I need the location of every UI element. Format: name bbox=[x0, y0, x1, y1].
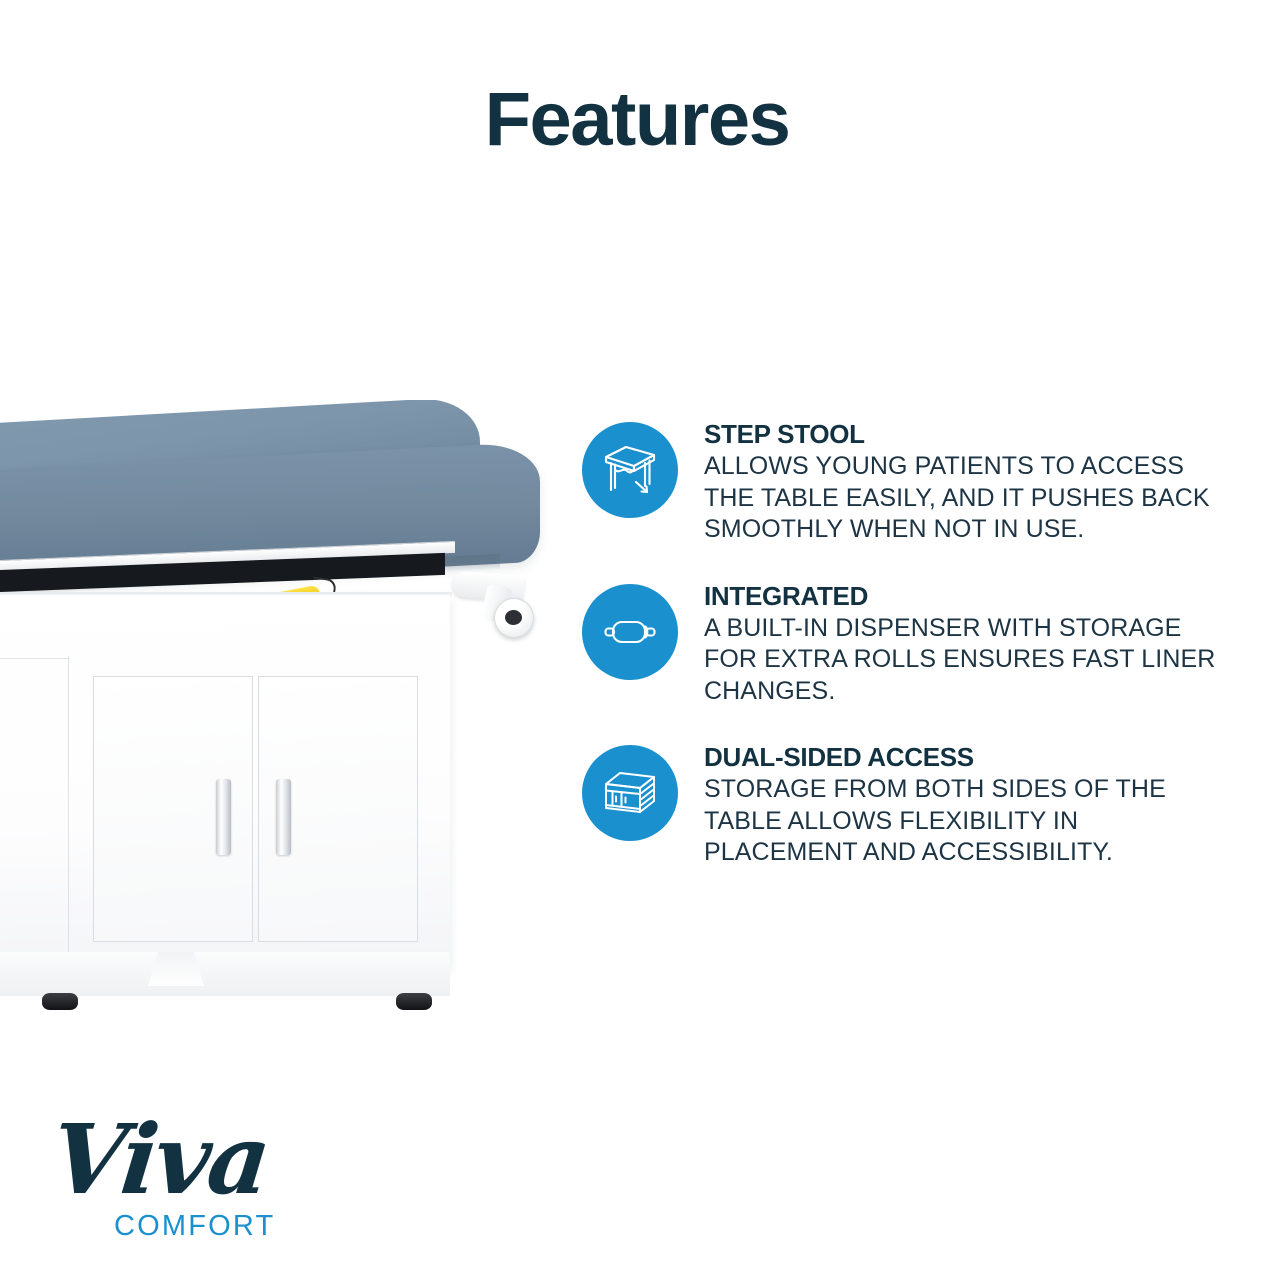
step-stool-icon bbox=[582, 422, 678, 518]
cabinet-foot-left bbox=[42, 993, 78, 1010]
feature-item-dual-sided-access: DUAL-SIDED ACCESS STORAGE FROM BOTH SIDE… bbox=[582, 741, 1222, 869]
feature-heading: INTEGRATED bbox=[704, 582, 1222, 611]
paper-roll-icon bbox=[582, 584, 678, 680]
brand-tagline: COMFORT bbox=[114, 1212, 275, 1241]
feature-body: A BUILT-IN DISPENSER WITH STORAGE FOR EX… bbox=[704, 613, 1222, 708]
feature-body: STORAGE FROM BOTH SIDES OF THE TABLE ALL… bbox=[704, 774, 1222, 869]
feature-heading: STEP STOOL bbox=[704, 420, 1222, 449]
feature-body: ALLOWS YOUNG PATIENTS TO ACCESS THE TABL… bbox=[704, 451, 1222, 546]
cabinet-seam-horizontal bbox=[0, 658, 70, 659]
roller-hub bbox=[505, 610, 522, 625]
cabinet-plinth bbox=[0, 952, 450, 996]
brand-name: Viva bbox=[47, 1112, 272, 1208]
cabinet-foot-right bbox=[396, 993, 432, 1010]
feature-list: STEP STOOL ALLOWS YOUNG PATIENTS TO ACCE… bbox=[582, 418, 1222, 903]
brand-logo: Viva COMFORT bbox=[52, 1112, 312, 1252]
feature-text-block: STEP STOOL ALLOWS YOUNG PATIENTS TO ACCE… bbox=[704, 418, 1222, 546]
feature-heading: DUAL-SIDED ACCESS bbox=[704, 743, 1222, 772]
feature-item-integrated: INTEGRATED A BUILT-IN DISPENSER WITH STO… bbox=[582, 580, 1222, 708]
page-title: Features bbox=[0, 82, 1274, 158]
feature-item-step-stool: STEP STOOL ALLOWS YOUNG PATIENTS TO ACCE… bbox=[582, 418, 1222, 546]
cabinet-handle-left[interactable] bbox=[216, 779, 231, 855]
feature-text-block: INTEGRATED A BUILT-IN DISPENSER WITH STO… bbox=[704, 580, 1222, 708]
feature-text-block: DUAL-SIDED ACCESS STORAGE FROM BOTH SIDE… bbox=[704, 741, 1222, 869]
cabinet-handle-right[interactable] bbox=[276, 779, 291, 855]
cabinet-seam-vertical bbox=[68, 656, 69, 966]
storage-cabinet-icon bbox=[582, 745, 678, 841]
